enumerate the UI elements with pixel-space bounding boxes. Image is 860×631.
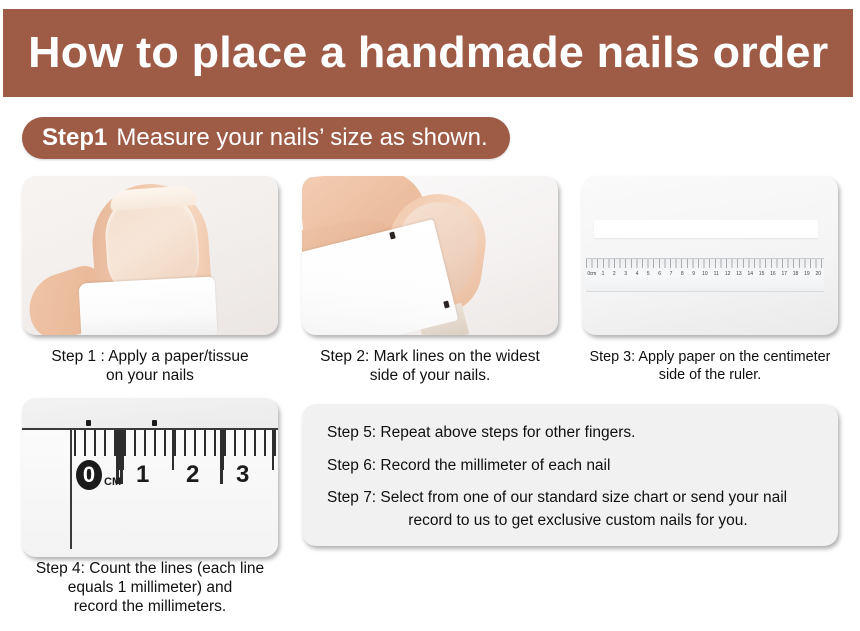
page-header-banner: How to place a handmade nails order xyxy=(3,9,853,97)
ruler-tick-marks xyxy=(586,259,824,268)
step5-line: Step 5: Repeat above steps for other fin… xyxy=(327,424,815,443)
page-title: How to place a handmade nails order xyxy=(28,31,828,75)
caption-step2-line1: Step 2: Mark lines on the widest xyxy=(292,348,568,367)
caption-step3-line1: Step 3: Apply paper on the centimeter xyxy=(578,348,843,366)
ruler-number: 16 xyxy=(767,269,778,281)
step1-heading-pill: Step1 Measure your nails’ size as shown. xyxy=(22,117,510,159)
ruler-number-2: 2 xyxy=(186,460,199,490)
step7-line: Step 7: Select from one of our standard … xyxy=(327,489,815,530)
paper-mark-left xyxy=(86,420,91,426)
ruler-number: 19 xyxy=(801,269,812,281)
caption-step3-line2: side of the ruler. xyxy=(578,366,843,384)
ruler-number: 8 xyxy=(677,269,688,281)
caption-step1: Step 1 : Apply a paper/tissue on your na… xyxy=(10,348,290,386)
ruler-number-3: 3 xyxy=(236,460,249,490)
paper-strip-shape xyxy=(79,276,218,335)
ruler-number: 3 xyxy=(620,269,631,281)
step1-description: Measure your nails’ size as shown. xyxy=(116,126,487,150)
caption-step2-line2: side of your nails. xyxy=(292,367,568,386)
ruler-number: 6 xyxy=(654,269,665,281)
caption-step3: Step 3: Apply paper on the centimeter si… xyxy=(578,348,843,385)
photo-card-step3: 0cm 1 2 3 4 5 6 7 8 9 10 11 12 13 14 15 … xyxy=(582,176,838,335)
ruler-number: 18 xyxy=(790,269,801,281)
finger-with-paper-illustration xyxy=(22,176,278,335)
ruler-number: 7 xyxy=(665,269,676,281)
caption-step4-line3: record the millimeters. xyxy=(8,598,292,617)
photo-card-step4: 0 CM 1 2 3 xyxy=(22,398,278,557)
ruler-number: 4 xyxy=(631,269,642,281)
caption-step4-line2: equals 1 millimeter) and xyxy=(8,579,292,598)
ruler-number: 14 xyxy=(745,269,756,281)
ruler-number: 17 xyxy=(779,269,790,281)
ruler-number: 2 xyxy=(609,269,620,281)
photo-card-step1 xyxy=(22,176,278,335)
step7-line2: record to us to get exclusive custom nai… xyxy=(327,512,815,531)
caption-step2: Step 2: Mark lines on the widest side of… xyxy=(292,348,568,386)
caption-step1-line2: on your nails xyxy=(10,367,290,386)
steps-5-7-list: Step 5: Repeat above steps for other fin… xyxy=(327,424,815,530)
step6-line: Step 6: Record the millimeter of each na… xyxy=(327,457,815,476)
ruler-closeup-illustration: 0 CM 1 2 3 xyxy=(22,398,278,557)
ruler-number: 9 xyxy=(688,269,699,281)
ruler-unit-label: CM xyxy=(104,476,121,488)
caption-step4-line1: Step 4: Count the lines (each line xyxy=(8,560,292,579)
ruler-zero-edge xyxy=(70,430,72,549)
ruler-number-1: 1 xyxy=(136,460,149,490)
photo-card-step2 xyxy=(302,176,558,335)
ruler-number: 0cm xyxy=(586,269,597,281)
ruler-number: 5 xyxy=(643,269,654,281)
ruler-zero-label: 0 xyxy=(76,460,102,490)
paper-on-ruler-illustration: 0cm 1 2 3 4 5 6 7 8 9 10 11 12 13 14 15 … xyxy=(582,176,838,335)
caption-step4: Step 4: Count the lines (each line equal… xyxy=(8,560,292,617)
ruler-number-row: 0cm 1 2 3 4 5 6 7 8 9 10 11 12 13 14 15 … xyxy=(586,269,824,281)
marking-paper-illustration xyxy=(302,176,558,335)
ruler-shape: 0cm 1 2 3 4 5 6 7 8 9 10 11 12 13 14 15 … xyxy=(586,258,824,292)
paper-strip-shape xyxy=(594,220,818,238)
ruler-number: 1 xyxy=(597,269,608,281)
ruler-number: 13 xyxy=(733,269,744,281)
ruler-number: 12 xyxy=(722,269,733,281)
ruler-number: 10 xyxy=(699,269,710,281)
ruler-number: 11 xyxy=(711,269,722,281)
caption-step1-line1: Step 1 : Apply a paper/tissue xyxy=(10,348,290,367)
paper-mark-right xyxy=(152,420,157,426)
step7-line1: Step 7: Select from one of our standard … xyxy=(327,489,787,506)
ruler-number: 20 xyxy=(813,269,824,281)
step1-label: Step1 xyxy=(42,126,107,150)
ruler-number: 15 xyxy=(756,269,767,281)
